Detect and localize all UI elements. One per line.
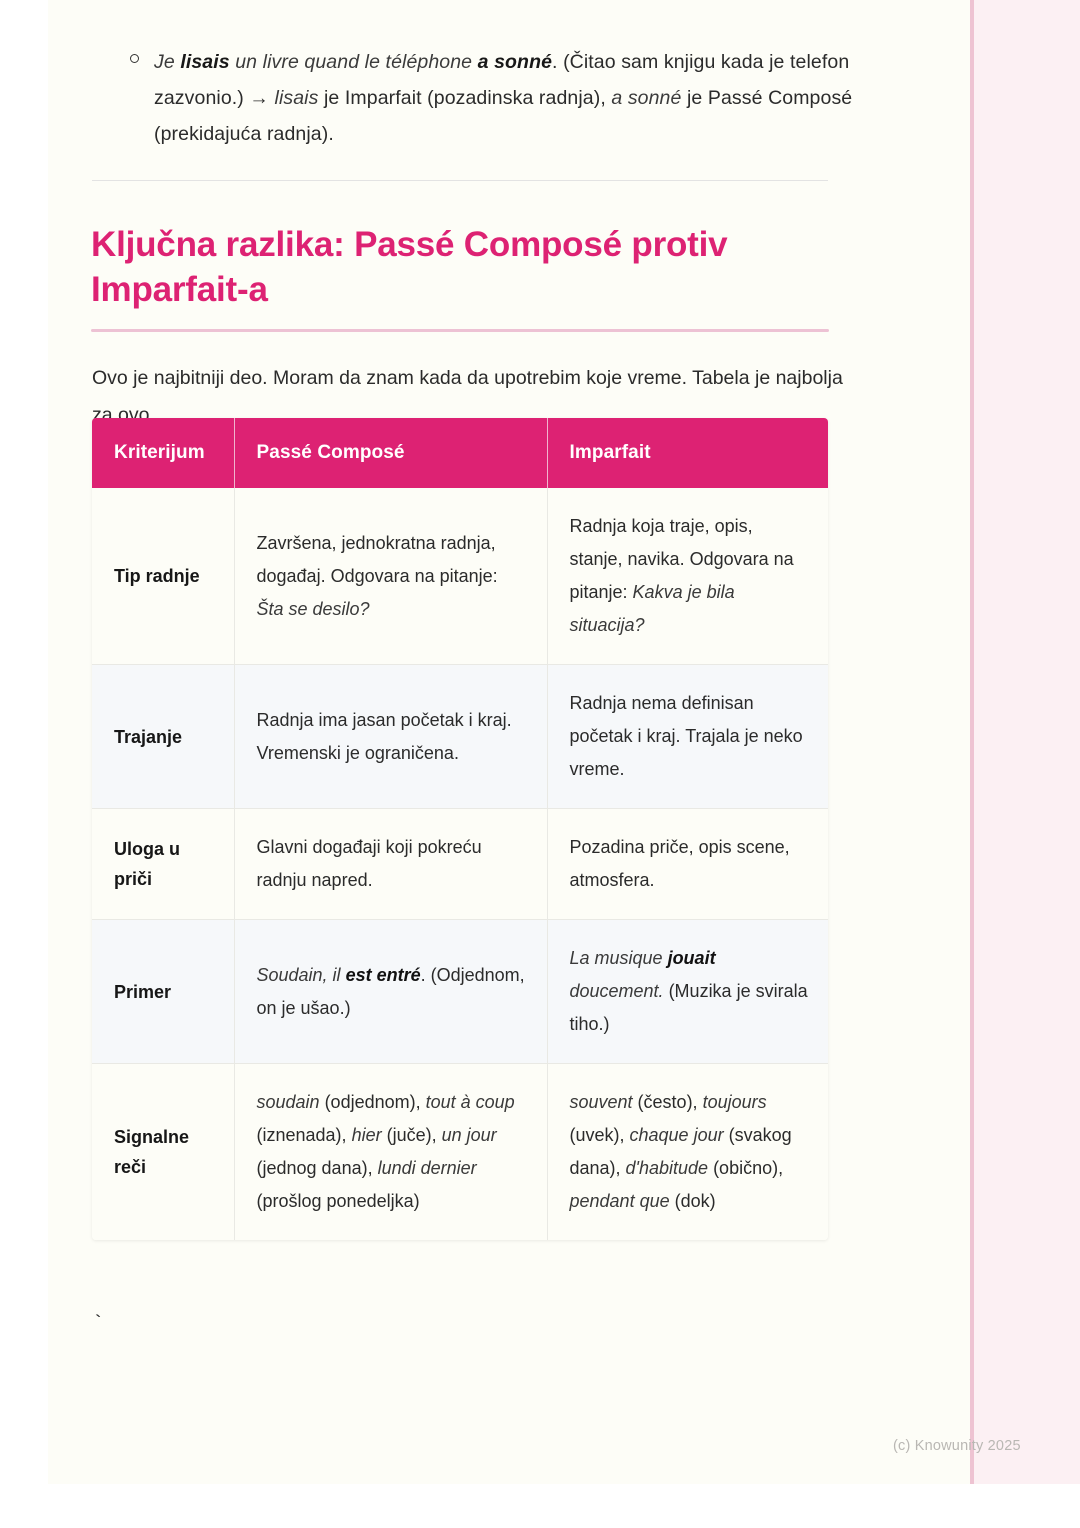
list-item: Je lisais un livre quand le téléphone a … <box>92 44 872 152</box>
cell-passe-compose-primer: Soudain, il est entré. (Odjednom, on je … <box>234 920 547 1064</box>
cell-imparfait-trajanje: Radnja nema definisan početak i kraj. Tr… <box>547 665 828 809</box>
cell-imparfait-signalne-reci: souvent (često), toujours (uvek), chaque… <box>547 1064 828 1241</box>
table-head: Kriterijum Passé Composé Imparfait <box>92 418 828 488</box>
example-bullet-block: Je lisais un livre quand le téléphone a … <box>92 44 872 152</box>
row-key-uloga-u-prici: Uloga u priči <box>92 809 234 920</box>
table-row: Tip radnje Završena, jednokratna radnja,… <box>92 488 828 665</box>
right-pink-strip-edge <box>970 0 974 1484</box>
document-page: Je lisais un livre quand le téléphone a … <box>48 0 1080 1484</box>
table-row: Trajanje Radnja ima jasan početak i kraj… <box>92 665 828 809</box>
table-row: Uloga u priči Glavni događaji koji pokre… <box>92 809 828 920</box>
column-header-passe-compose: Passé Composé <box>234 418 547 488</box>
stray-backtick-mark: ` <box>92 1310 104 1340</box>
cell-imparfait-uloga: Pozadina priče, opis scene, atmosfera. <box>547 809 828 920</box>
cell-passe-compose-signalne-reci: soudain (odjednom), tout à coup (iznenad… <box>234 1064 547 1241</box>
cell-passe-compose-tip-radnje: Završena, jednokratna radnja, događaj. O… <box>234 488 547 665</box>
comparison-table-wrapper: Kriterijum Passé Composé Imparfait Tip r… <box>92 418 828 1240</box>
column-header-kriterijum: Kriterijum <box>92 418 234 488</box>
table-row: Primer Soudain, il est entré. (Odjednom,… <box>92 920 828 1064</box>
cell-passe-compose-trajanje: Radnja ima jasan početak i kraj. Vremens… <box>234 665 547 809</box>
circle-outline-bullet-icon <box>130 54 139 63</box>
document-content: Je lisais un livre quand le téléphone a … <box>48 0 970 1484</box>
cell-imparfait-tip-radnje: Radnja koja traje, opis, stanje, navika.… <box>547 488 828 665</box>
table-header-row: Kriterijum Passé Composé Imparfait <box>92 418 828 488</box>
cell-passe-compose-uloga: Glavni događaji koji pokreću radnju napr… <box>234 809 547 920</box>
row-key-tip-radnje: Tip radnje <box>92 488 234 665</box>
cell-imparfait-primer: La musique jouait doucement. (Muzika je … <box>547 920 828 1064</box>
right-pink-strip <box>970 0 1080 1484</box>
heading-underline-rule <box>91 329 829 332</box>
comparison-table: Kriterijum Passé Composé Imparfait Tip r… <box>92 418 828 1240</box>
section-divider <box>92 180 828 181</box>
row-key-trajanje: Trajanje <box>92 665 234 809</box>
page-title: Ključna razlika: Passé Composé protiv Im… <box>91 222 811 312</box>
table-row: Signalne reči soudain (odjednom), tout à… <box>92 1064 828 1241</box>
row-key-signalne-reci: Signalne reči <box>92 1064 234 1241</box>
table-body: Tip radnje Završena, jednokratna radnja,… <box>92 488 828 1240</box>
copyright-watermark: (c) Knowunity 2025 <box>893 1438 1021 1454</box>
row-key-primer: Primer <box>92 920 234 1064</box>
column-header-imparfait: Imparfait <box>547 418 828 488</box>
list-item-text: Je lisais un livre quand le téléphone a … <box>154 44 872 152</box>
